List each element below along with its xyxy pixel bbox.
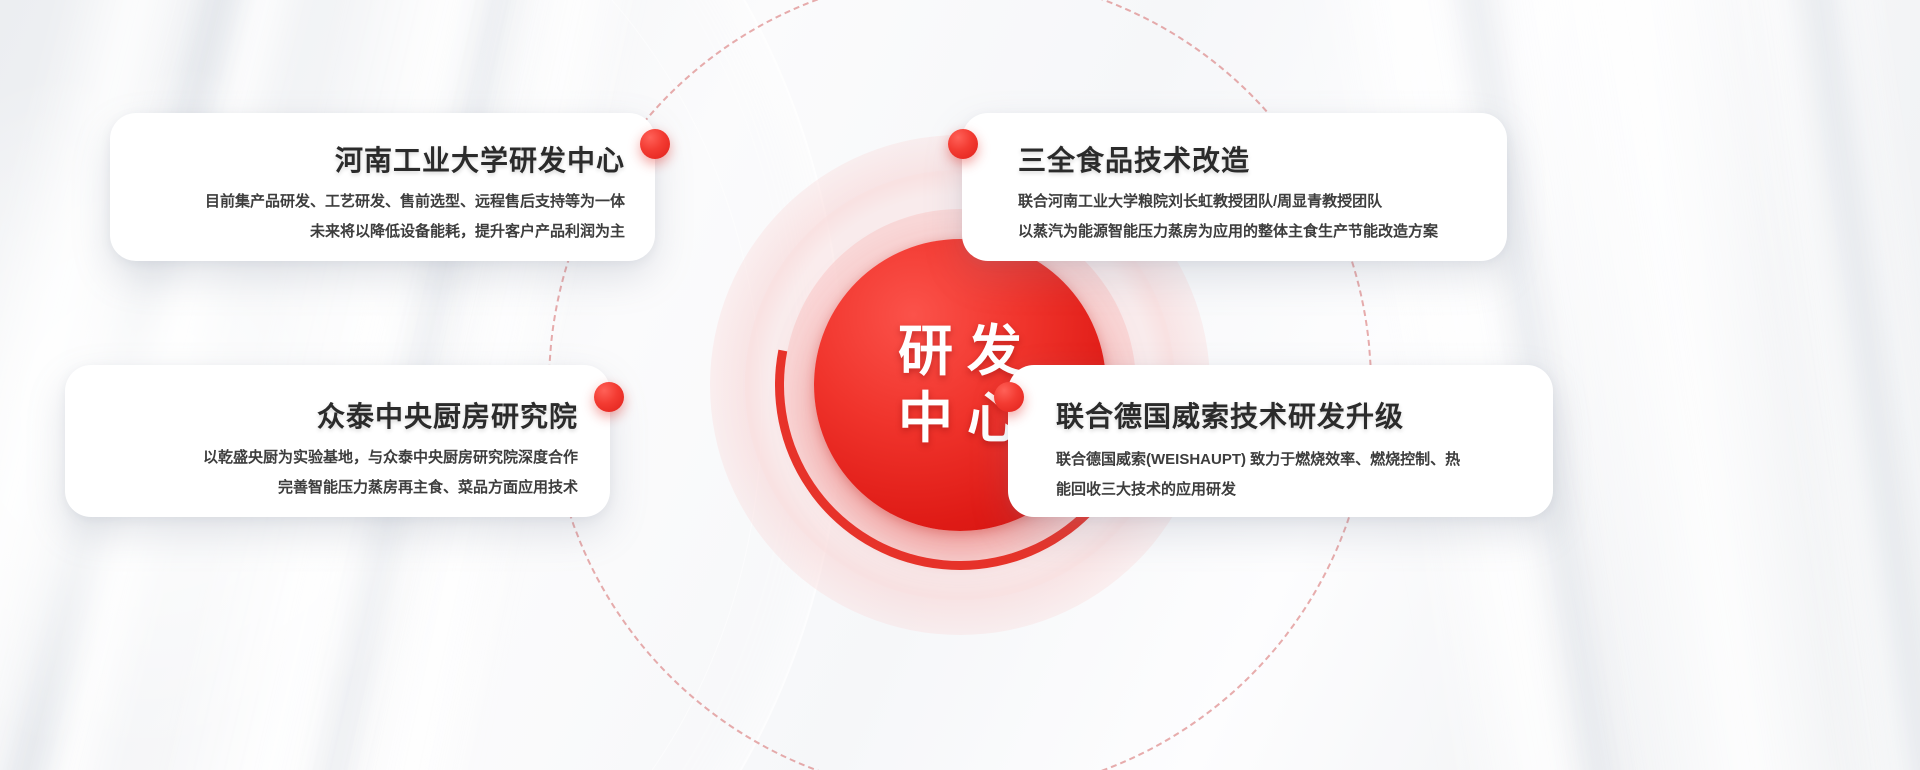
card-body-line: 完善智能压力蒸房再主食、菜品方面应用技术 (65, 473, 578, 503)
card-body-line: 联合德国威索(WEISHAUPT) 致力于燃烧效率、燃烧控制、热 (1056, 445, 1553, 475)
card-marker-dot-icon (640, 129, 670, 159)
card-marker-dot-icon (994, 382, 1024, 412)
card-body-line: 目前集产品研发、工艺研发、售前选型、远程售后支持等为一体 (110, 187, 625, 217)
card-zhongtai-central-kitchen-institute[interactable]: 众泰中央厨房研究院 以乾盛央厨为实验基地，与众泰中央厨房研究院深度合作 完善智能… (65, 365, 610, 517)
card-title: 众泰中央厨房研究院 (65, 395, 578, 435)
card-body-line: 联合河南工业大学粮院刘长虹教授团队/周显青教授团队 (1018, 187, 1507, 217)
card-body-line: 能回收三大技术的应用研发 (1056, 475, 1553, 505)
card-sanquan-food-tech-upgrade[interactable]: 三全食品技术改造 联合河南工业大学粮院刘长虹教授团队/周显青教授团队 以蒸汽为能… (962, 113, 1507, 261)
card-henan-university-rd-center[interactable]: 河南工业大学研发中心 目前集产品研发、工艺研发、售前选型、远程售后支持等为一体 … (110, 113, 655, 261)
card-body-line: 以乾盛央厨为实验基地，与众泰中央厨房研究院深度合作 (65, 443, 578, 473)
card-marker-dot-icon (594, 382, 624, 412)
card-body-line: 以蒸汽为能源智能压力蒸房为应用的整体主食生产节能改造方案 (1018, 217, 1507, 247)
card-marker-dot-icon (948, 129, 978, 159)
card-title: 联合德国威索技术研发升级 (1056, 395, 1553, 435)
card-body-line: 未来将以降低设备能耗，提升客户产品利润为主 (110, 217, 625, 247)
card-title: 河南工业大学研发中心 (110, 139, 625, 179)
card-title: 三全食品技术改造 (1018, 139, 1507, 179)
infographic-stage: 研发 中心 河南工业大学研发中心 目前集产品研发、工艺研发、售前选型、远程售后支… (0, 0, 1920, 770)
card-weishaupt-joint-rd-upgrade[interactable]: 联合德国威索技术研发升级 联合德国威索(WEISHAUPT) 致力于燃烧效率、燃… (1008, 365, 1553, 517)
